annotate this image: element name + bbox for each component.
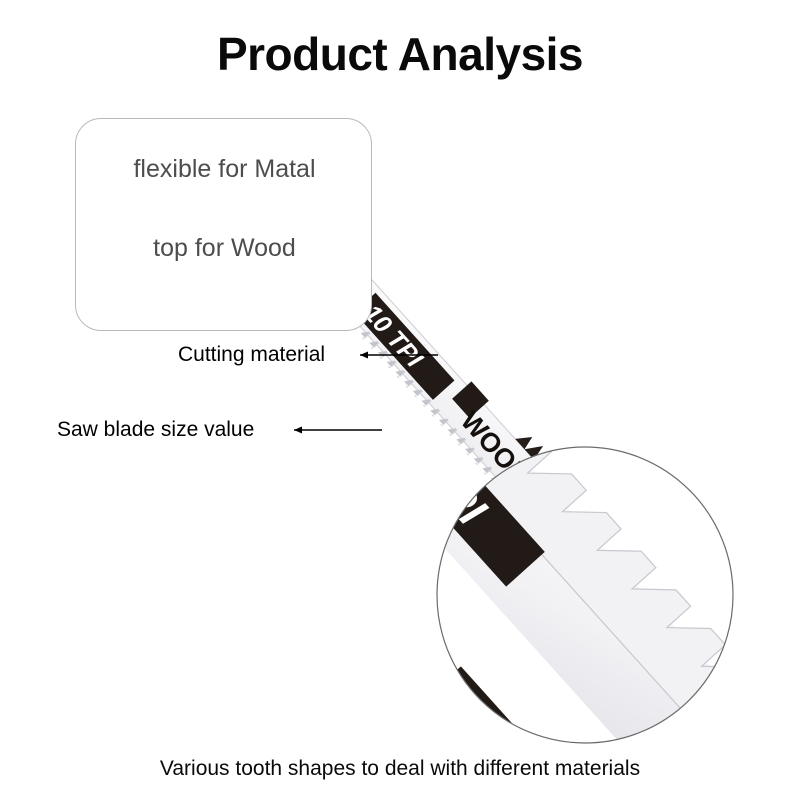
annotation-label-cutting-material: Cutting material [178,343,325,367]
annotation-label-saw-blade-size-value: Saw blade size value [57,418,254,442]
magnifier-caption: Various tooth shapes to deal with differ… [0,757,800,781]
feature-line-metal: flexible for Matal [76,155,373,184]
product-analysis-page: Product Analysis [0,0,800,800]
magnifier-inset: 10 TPI S16 [253,333,800,800]
feature-callout-box: flexible for Matal top for Wood [75,118,372,331]
feature-line-wood: top for Wood [76,234,373,263]
